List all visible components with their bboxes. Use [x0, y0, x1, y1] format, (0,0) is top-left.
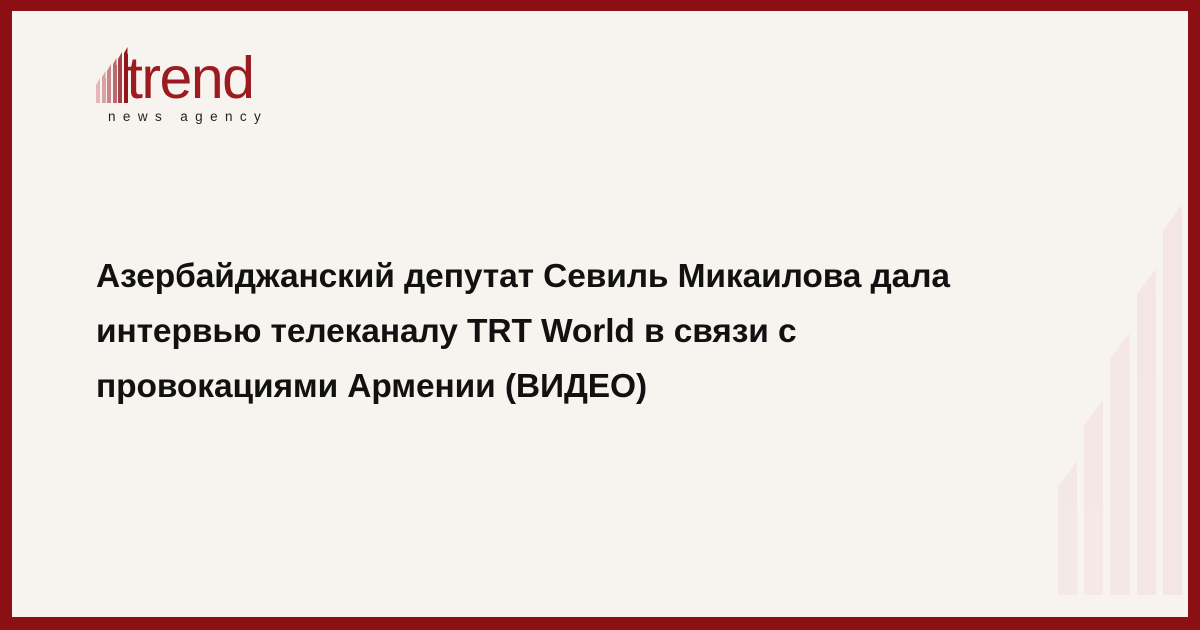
logo-bar: [96, 85, 100, 103]
logo-bar: [113, 65, 117, 103]
trend-news-agency-logo[interactable]: trend news agency: [96, 39, 396, 149]
watermark-bar: [1110, 359, 1129, 595]
watermark-bar: [1137, 295, 1156, 595]
logo-bar: [124, 54, 128, 103]
watermark-bar: [1084, 425, 1103, 595]
watermark-bars-group: [1058, 155, 1188, 595]
logo-wordmark: trend: [127, 51, 254, 105]
card-inner-surface: trend news agency Азербайджанский депута…: [12, 11, 1188, 617]
watermark-bar: [1163, 231, 1182, 595]
logo-wordmark-row: trend: [96, 39, 396, 105]
bar-chart-watermark-icon: [998, 11, 1188, 617]
watermark-bar: [1058, 487, 1077, 595]
bar-chart-logo-icon: [96, 51, 128, 105]
logo-tagline: news agency: [108, 109, 396, 124]
logo-bar: [118, 59, 122, 103]
headline-title: Азербайджанский депутат Севиль Микаилова…: [96, 249, 1016, 414]
news-share-card: trend news agency Азербайджанский депута…: [0, 0, 1200, 630]
logo-bar: [102, 78, 106, 103]
logo-bar: [107, 71, 111, 103]
